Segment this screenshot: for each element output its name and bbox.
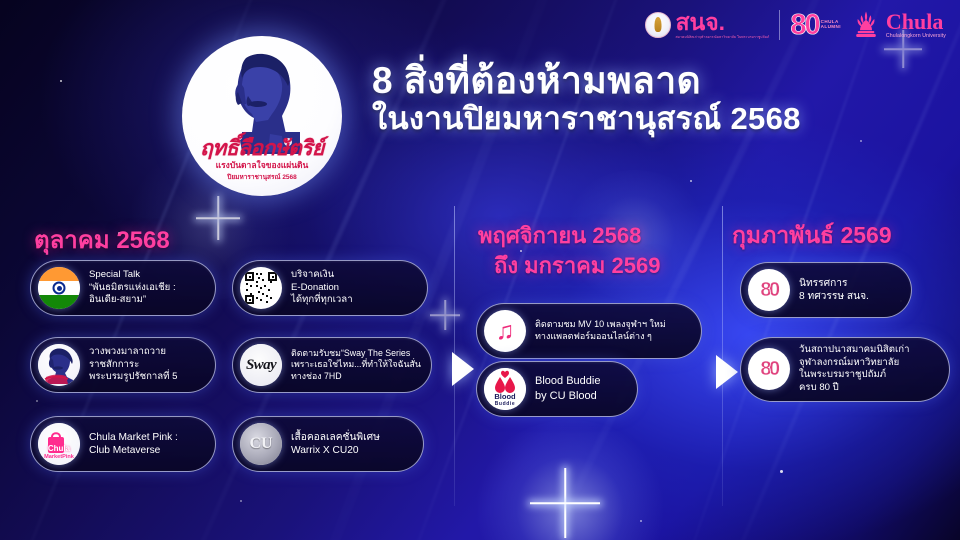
arrow-to-middle-column bbox=[452, 352, 474, 386]
card-text: บริจาคเงิน E-Donation ได้ทุกที่ทุกเวลา bbox=[291, 269, 353, 307]
card-chula-market-pink[interactable]: Chula MarketPink Chula Market Pink : Clu… bbox=[30, 416, 216, 472]
card-text: Chula Market Pink : Club Metaverse bbox=[89, 431, 178, 458]
card-text: นิทรรศการ 8 ทศวรรษ สนจ. bbox=[799, 277, 869, 304]
icon-label-marketpink: MarketPink bbox=[38, 455, 80, 461]
icon-label-chula: Chula bbox=[38, 445, 80, 453]
card-sway-the-series[interactable]: Sway ติดตามรับชม“Sway The Series เพราะเธ… bbox=[232, 337, 432, 393]
sanj-logo-text: สนจ. bbox=[675, 11, 725, 34]
card-e-donation[interactable]: บริจาคเงิน E-Donation ได้ทุกที่ทุกเวลา bbox=[232, 260, 428, 316]
king-rama-v-icon bbox=[38, 344, 80, 386]
star-dot bbox=[780, 470, 783, 473]
card-wreath-laying[interactable]: วางพวงมาลาถวาย ราชสักการะ พระบรมรูปรัชกา… bbox=[30, 337, 216, 393]
sparkle-star bbox=[530, 468, 600, 538]
eighty-label: 80 bbox=[748, 269, 790, 311]
eighty-logo-text: 80 bbox=[790, 11, 818, 40]
star-dot bbox=[860, 140, 862, 142]
sanj-seal-icon bbox=[645, 12, 671, 38]
card-mv-10-songs[interactable]: ♫ ติดตามชม MV 10 เพลงจุฬาฯ ใหม่ ทางแพลตฟ… bbox=[476, 303, 702, 359]
emblem-subtitle-1: แรงบันดาลใจของแผ่นดิน bbox=[182, 158, 342, 172]
column-heading-february: กุมภาพันธ์ 2569 bbox=[732, 218, 892, 254]
music-note-icon: ♫ bbox=[484, 310, 526, 352]
card-text: วันสถาปนาสมาคมนิสิตเก่า จุฬาลงกรณ์มหาวิท… bbox=[799, 344, 909, 395]
icon-label-blood: Blood bbox=[484, 393, 526, 401]
column-heading-november-line2: ถึง มกราคม 2569 bbox=[494, 248, 660, 283]
blood-buddie-icon: Blood Buddie bbox=[484, 368, 526, 410]
piyamaharatchanuson-emblem: ฤทธิ์ลือกษัตริย์ แรงบันดาลใจของแผ่นดิน ป… bbox=[182, 36, 342, 196]
india-flag-icon bbox=[38, 267, 80, 309]
sway-logo-icon: Sway bbox=[240, 344, 282, 386]
emblem-subtitle-2: ปิยมหาราชานุสรณ์ 2568 bbox=[182, 172, 342, 182]
star-dot bbox=[240, 500, 242, 502]
card-special-talk[interactable]: Special Talk “พันธมิตรแห่งเอเชีย : อินเด… bbox=[30, 260, 216, 316]
card-text: วางพวงมาลาถวาย ราชสักการะ พระบรมรูปรัชกา… bbox=[89, 346, 178, 384]
poster-title: 8 สิ่งที่ต้องห้ามพลาด ในงานปิยมหาราชานุส… bbox=[372, 62, 801, 137]
star-dot bbox=[36, 400, 38, 402]
star-dot bbox=[60, 80, 62, 82]
cu-monogram: CU bbox=[240, 423, 282, 465]
sway-wordmark: Sway bbox=[240, 344, 282, 386]
card-blood-buddie[interactable]: Blood Buddie Blood Buddie by CU Blood bbox=[476, 361, 638, 417]
sanj-logo: สนจ. สมาคมนิสิตเก่าจุฬาลงกรณ์มหาวิทยาลัย… bbox=[645, 11, 769, 39]
star-dot bbox=[690, 180, 692, 182]
chula-market-pink-icon: Chula MarketPink bbox=[38, 423, 80, 465]
card-warrix-cu20-shirt[interactable]: CU เสื้อคอลเลคชั่นพิเศษ Warrix X CU20 bbox=[232, 416, 424, 472]
logo-divider bbox=[779, 10, 780, 40]
card-text: ติดตามรับชม“Sway The Series เพราะเธอใช่ไ… bbox=[291, 348, 421, 383]
title-line-2: ในงานปิยมหาราชานุสรณ์ 2568 bbox=[372, 102, 801, 136]
sparkle-star bbox=[196, 196, 240, 240]
chula-logo: Chula Chulalongkorn University bbox=[851, 10, 946, 40]
qr-code-icon bbox=[240, 267, 282, 309]
star-dot bbox=[640, 520, 642, 522]
eighty-alumni-logo: 80 CHULA ALUMNI bbox=[790, 11, 841, 40]
card-exhibition-80-years[interactable]: 80 นิทรรศการ 8 ทศวรรษ สนจ. bbox=[740, 262, 912, 318]
arrow-to-right-column bbox=[716, 355, 738, 389]
card-text: เสื้อคอลเลคชั่นพิเศษ Warrix X CU20 bbox=[291, 431, 380, 458]
cu-coin-icon: CU bbox=[240, 423, 282, 465]
logo-bar: สนจ. สมาคมนิสิตเก่าจุฬาลงกรณ์มหาวิทยาลัย… bbox=[645, 10, 946, 40]
background-glow bbox=[470, 420, 670, 540]
card-text: Special Talk “พันธมิตรแห่งเอเชีย : อินเด… bbox=[89, 269, 176, 307]
chula-logo-full-name: Chulalongkorn University bbox=[886, 34, 946, 39]
eighty-years-icon: 80 bbox=[748, 269, 790, 311]
card-alumni-association-anniversary[interactable]: 80 วันสถาปนาสมาคมนิสิตเก่า จุฬาลงกรณ์มหา… bbox=[740, 337, 950, 402]
title-line-1: 8 สิ่งที่ต้องห้ามพลาด bbox=[372, 62, 801, 100]
card-text: ติดตามชม MV 10 เพลงจุฬาฯ ใหม่ ทางแพลตฟอร… bbox=[535, 319, 666, 343]
eighty-years-icon: 80 bbox=[748, 348, 790, 390]
eighty-logo-sub-2: ALUMNI bbox=[821, 25, 841, 30]
eighty-label: 80 bbox=[748, 348, 790, 390]
chula-logo-name: Chula bbox=[886, 11, 946, 33]
icon-label-buddie: Buddie bbox=[484, 402, 526, 407]
sparkle-star bbox=[430, 300, 460, 330]
card-text: Blood Buddie by CU Blood bbox=[535, 374, 600, 403]
phra-kiao-crown-icon bbox=[851, 10, 881, 40]
column-heading-october: ตุลาคม 2568 bbox=[34, 220, 170, 259]
sanj-logo-caption: สมาคมนิสิตเก่าจุฬาลงกรณ์มหาวิทยาลัย ในพร… bbox=[675, 36, 769, 39]
infographic-poster: ฤทธิ์ลือกษัตริย์ แรงบันดาลใจของแผ่นดิน ป… bbox=[0, 0, 960, 540]
